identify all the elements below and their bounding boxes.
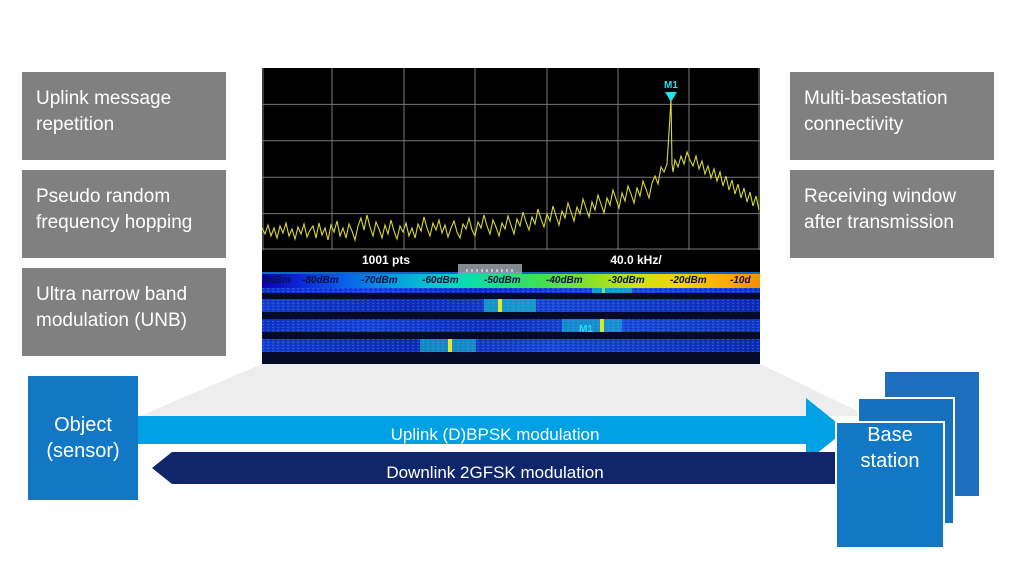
feature-line-2: frequency hopping: [36, 210, 212, 236]
waterfall-svg: [262, 288, 760, 364]
base-station-label: Base station: [836, 422, 944, 474]
feature-box-pseudo-random-frequency-hopping[interactable]: Pseudo random frequency hopping: [22, 170, 226, 258]
feature-line-1: Ultra narrow band: [36, 282, 212, 308]
feature-box-uplink-message-repetition[interactable]: Uplink message repetition: [22, 72, 226, 160]
feature-line-2: repetition: [36, 112, 212, 138]
feature-line-2: after transmission: [804, 210, 980, 236]
feature-box-ultra-narrow-band-modulation[interactable]: Ultra narrow band modulation (UNB): [22, 268, 226, 356]
downlink-arrow-label: Downlink 2GFSK modulation: [150, 463, 840, 483]
slide-canvas: Uplink message repetition Pseudo random …: [0, 0, 1024, 576]
feature-box-multi-basestation-connectivity[interactable]: Multi-basestation connectivity: [790, 72, 994, 160]
feature-line-1: Uplink message: [36, 86, 212, 112]
object-line-1: Object: [28, 412, 138, 438]
object-sensor-label: Object (sensor): [28, 412, 138, 464]
perspective-funnel: [140, 364, 868, 416]
base-line-2: station: [836, 448, 944, 474]
base-station-node[interactable]: Base station: [836, 422, 944, 474]
colorbar-label-2: -70dBm: [361, 274, 398, 288]
colorbar-label-8: -10d: [730, 274, 751, 288]
feature-box-receiving-window-after-transmission[interactable]: Receiving window after transmission: [790, 170, 994, 258]
marker-m1-label: M1: [664, 80, 678, 91]
spectrum-plot: M1: [262, 68, 760, 250]
feature-line-2: modulation (UNB): [36, 308, 212, 334]
feature-line-2: connectivity: [804, 112, 980, 138]
colorbar-label-7: -20dBm: [670, 274, 707, 288]
span-per-division-label: 40.0 kHz/: [512, 253, 760, 267]
colorbar-label-5: -40dBm: [546, 274, 583, 288]
feature-line-1: Pseudo random: [36, 184, 212, 210]
waterfall-marker-m1-label: M1: [579, 324, 593, 335]
colorbar-label-3: -60dBm: [422, 274, 459, 288]
base-line-1: Base: [836, 422, 944, 448]
spectrum-svg: M1: [262, 68, 760, 250]
colorbar-label-1: -80dBm: [302, 274, 339, 288]
slider-grip-dots: [466, 269, 514, 272]
feature-line-1: Multi-basestation: [804, 86, 980, 112]
object-line-2: (sensor): [28, 438, 138, 464]
uplink-arrow-label: Uplink (D)BPSK modulation: [150, 425, 840, 445]
colorbar-label-4: -50dBm: [484, 274, 521, 288]
object-sensor-node[interactable]: Object (sensor): [28, 376, 138, 500]
spectrum-analyzer-display: M1 1001 pts 40.0 kHz/ 0dBm -80dBm -70dBm…: [262, 68, 760, 364]
feature-line-1: Receiving window: [804, 184, 980, 210]
waterfall-spectrogram: M1: [262, 288, 760, 364]
colorbar-label-6: -30dBm: [608, 274, 645, 288]
colorbar-label-0: 0dBm: [263, 274, 291, 288]
